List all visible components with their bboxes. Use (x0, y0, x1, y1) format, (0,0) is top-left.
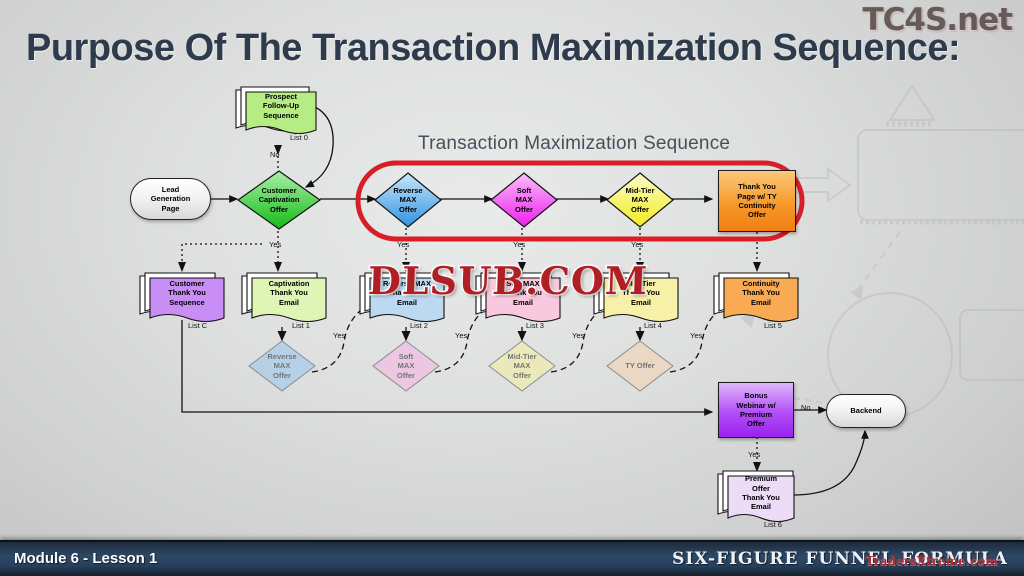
edge-label-yes-midtier: Yes (631, 240, 643, 249)
list-label-5: List 5 (764, 321, 782, 330)
footer-bar: Module 6 - Lesson 1 SIX-FIGURE FUNNEL FO… (0, 540, 1024, 576)
document-stack-icon (592, 272, 684, 328)
section-label: Transaction Maximization Sequence (418, 133, 730, 155)
edge-label-yes-ghost-2: Yes (455, 331, 467, 340)
node-premium-offer-thank-you-email[interactable]: Premium Offer Thank You Email List 6 (716, 470, 808, 528)
node-lead-generation-page-label: Lead Generation Page (131, 179, 210, 219)
edge-label-yes-soft: Yes (513, 240, 525, 249)
node-soft-max-thank-you-email[interactable]: Soft MAX Thank You Email List 3 (474, 272, 566, 328)
node-customer-thank-you-sequence[interactable]: Customer Thank You Sequence List C (138, 272, 230, 328)
document-stack-icon (716, 470, 808, 528)
diamond-shape (374, 172, 442, 228)
list-label-c: List C (188, 321, 207, 330)
node-captivation-thank-you-email[interactable]: Captivation Thank You Email List 1 (240, 272, 332, 328)
list-label-2: List 2 (410, 321, 428, 330)
footer-module-label: Module 6 - Lesson 1 (14, 550, 157, 567)
node-backend[interactable]: Backend (826, 394, 906, 428)
node-customer-captivation-offer[interactable]: Customer Captivation Offer (237, 170, 321, 230)
highlight-oval (0, 0, 1024, 540)
diamond-shape (372, 340, 440, 392)
flowchart: Transaction Maximization Sequence Lead G… (0, 0, 1024, 540)
document-stack-icon (234, 84, 320, 140)
node-ty-offer-ghost[interactable]: TY Offer (606, 340, 674, 392)
node-mid-tier-thank-you-email[interactable]: Mid-Tier Thank You Email List 4 (592, 272, 684, 328)
diamond-shape (606, 172, 674, 228)
node-thank-you-page-ty-continuity-offer-label: Thank You Page w/ TY Continuity Offer (719, 171, 795, 231)
node-lead-generation-page[interactable]: Lead Generation Page (130, 178, 211, 220)
slide-stage: Purpose Of The Transaction Maximization … (0, 0, 1024, 576)
document-stack-icon (138, 272, 230, 328)
document-stack-icon (474, 272, 566, 328)
document-stack-icon (712, 272, 804, 328)
node-reverse-max-offer[interactable]: Reverse MAX Offer (374, 172, 442, 228)
list-label-1: List 1 (292, 321, 310, 330)
edge-label-yes-reverse: Yes (397, 240, 409, 249)
node-thank-you-page-ty-continuity-offer[interactable]: Thank You Page w/ TY Continuity Offer (718, 170, 796, 232)
edge-label-yes-captivation: Yes (269, 240, 281, 249)
node-soft-max-offer-ghost[interactable]: Soft MAX Offer (372, 340, 440, 392)
edge-label-yes-ghost-1: Yes (333, 331, 345, 340)
node-reverse-max-offer-ghost[interactable]: Reverse MAX Offer (248, 340, 316, 392)
node-soft-max-offer[interactable]: Soft MAX Offer (490, 172, 558, 228)
node-bonus-webinar-premium-offer[interactable]: Bonus Webinar w/ Premium Offer (718, 382, 794, 438)
edge-label-yes-ghost-3: Yes (572, 331, 584, 340)
edge-label-yes-ghost-4: Yes (690, 331, 702, 340)
list-label-3: List 3 (526, 321, 544, 330)
node-mid-tier-max-offer[interactable]: Mid-Tier MAX Offer (606, 172, 674, 228)
node-mid-tier-max-offer-ghost[interactable]: Mid-Tier MAX Offer (488, 340, 556, 392)
document-stack-icon (358, 272, 450, 328)
node-bonus-webinar-premium-offer-label: Bonus Webinar w/ Premium Offer (719, 383, 793, 437)
list-label-6: List 6 (764, 520, 782, 529)
node-prospect-follow-up-sequence[interactable]: Prospect Follow-Up Sequence List 0 (234, 84, 320, 140)
diamond-shape (237, 170, 321, 230)
diamond-shape (606, 340, 674, 392)
node-reverse-max-thank-you-email[interactable]: Reverse MAX Thank You Email List 2 (358, 272, 450, 328)
list-label-4: List 4 (644, 321, 662, 330)
diamond-shape (248, 340, 316, 392)
edge-label-no-prospect: No (270, 150, 280, 159)
diamond-shape (488, 340, 556, 392)
list-label-0: List 0 (290, 133, 308, 142)
edge-label-no-bonus: No (801, 403, 811, 412)
edge-label-yes-bonus: Yes (748, 450, 760, 459)
watermark-footer: TradersXtreme.com (865, 554, 998, 568)
node-continuity-thank-you-email[interactable]: Continuity Thank You Email List 5 (712, 272, 804, 328)
diamond-shape (490, 172, 558, 228)
node-backend-label: Backend (827, 395, 905, 427)
document-stack-icon (240, 272, 332, 328)
